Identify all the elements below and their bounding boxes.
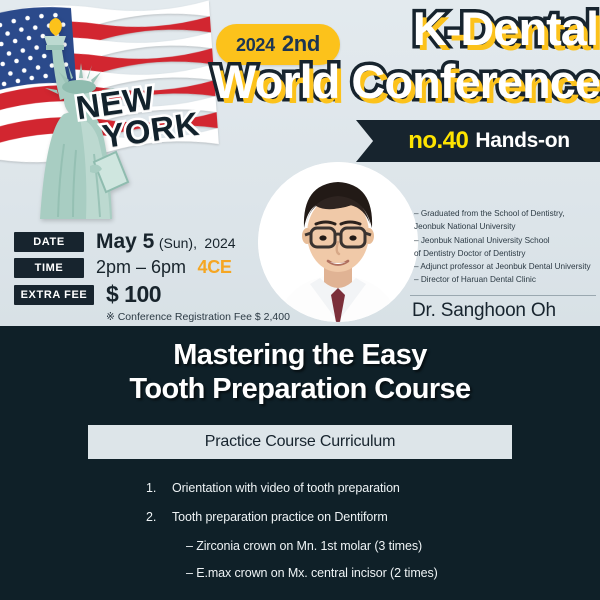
- curriculum-item: 1. Orientation with video of tooth prepa…: [146, 481, 600, 495]
- date-value: May 5 (Sun), 2024: [96, 230, 236, 254]
- city-label: NEW YORK: [74, 76, 201, 155]
- speaker-credentials: – Graduated from the School of Dentistry…: [414, 207, 594, 287]
- credential-item: – Adjunct professor at Jeonbuk Dental Un…: [414, 260, 594, 273]
- event-date-row: DATE May 5 (Sun), 2024: [14, 230, 294, 254]
- poster-header: NEW YORK 2024 2nd K-Dental World Confere…: [0, 0, 600, 326]
- conference-poster: NEW YORK 2024 2nd K-Dental World Confere…: [0, 0, 600, 600]
- session-number: no.40: [408, 127, 468, 155]
- event-time-row: TIME 2pm – 6pm 4CE: [14, 257, 294, 278]
- ce-credit-badge: 4CE: [198, 257, 232, 277]
- session-ribbon: no.40 Hands-on: [356, 120, 600, 162]
- conference-title-line1: K-Dental: [188, 6, 600, 52]
- course-title-line2: Tooth Preparation Course: [0, 373, 600, 407]
- credential-item: – Jeonbuk National University School: [414, 234, 594, 247]
- curriculum-item-text: Orientation with video of tooth preparat…: [172, 481, 400, 495]
- curriculum-subitem: – Zirconia crown on Mn. 1st molar (3 tim…: [186, 539, 600, 553]
- extra-fee-label: EXTRA FEE: [14, 285, 94, 305]
- course-section: Mastering the Easy Tooth Preparation Cou…: [0, 326, 600, 600]
- event-fee-row: EXTRA FEE $ 100: [14, 281, 294, 308]
- curriculum-item: 2. Tooth preparation practice on Dentifo…: [146, 510, 600, 524]
- conference-title: K-Dental World Conference: [188, 6, 600, 105]
- credential-item: – Director of Haruan Dental Clinic: [414, 273, 594, 286]
- date-weekday: (Sun),: [159, 235, 197, 251]
- credential-item: of Dentistry Doctor of Dentistry: [414, 247, 594, 260]
- speaker-name: Dr. Sanghoon Oh: [412, 300, 556, 322]
- session-type: Hands-on: [475, 129, 569, 153]
- course-title-line1: Mastering the Easy: [0, 339, 600, 373]
- date-day: May 5: [96, 230, 154, 253]
- time-label: TIME: [14, 258, 84, 278]
- credential-item: – Graduated from the School of Dentistry…: [414, 207, 594, 220]
- curriculum-item-number: 1.: [146, 481, 172, 495]
- course-title: Mastering the Easy Tooth Preparation Cou…: [0, 339, 600, 406]
- extra-fee-value: $ 100: [106, 281, 161, 308]
- date-year: 2024: [204, 235, 235, 251]
- credential-item: Jeonbuk National University: [414, 220, 594, 233]
- curriculum-item-text: Tooth preparation practice on Dentiform: [172, 510, 388, 524]
- curriculum-item-number: 2.: [146, 510, 172, 524]
- time-range: 2pm – 6pm: [96, 257, 186, 277]
- speaker-name-divider: [410, 295, 596, 296]
- curriculum-list: 1. Orientation with video of tooth prepa…: [146, 481, 600, 580]
- time-value: 2pm – 6pm 4CE: [96, 257, 232, 278]
- date-label: DATE: [14, 232, 84, 252]
- conference-title-line2: World Conference: [188, 59, 600, 105]
- curriculum-subitem: – E.max crown on Mx. central incisor (2 …: [186, 566, 600, 580]
- event-info-block: DATE May 5 (Sun), 2024 TIME 2pm – 6pm 4C…: [14, 230, 294, 323]
- registration-fee-note: ※ Conference Registration Fee $ 2,400: [106, 311, 294, 323]
- curriculum-header-bar: Practice Course Curriculum: [88, 425, 512, 459]
